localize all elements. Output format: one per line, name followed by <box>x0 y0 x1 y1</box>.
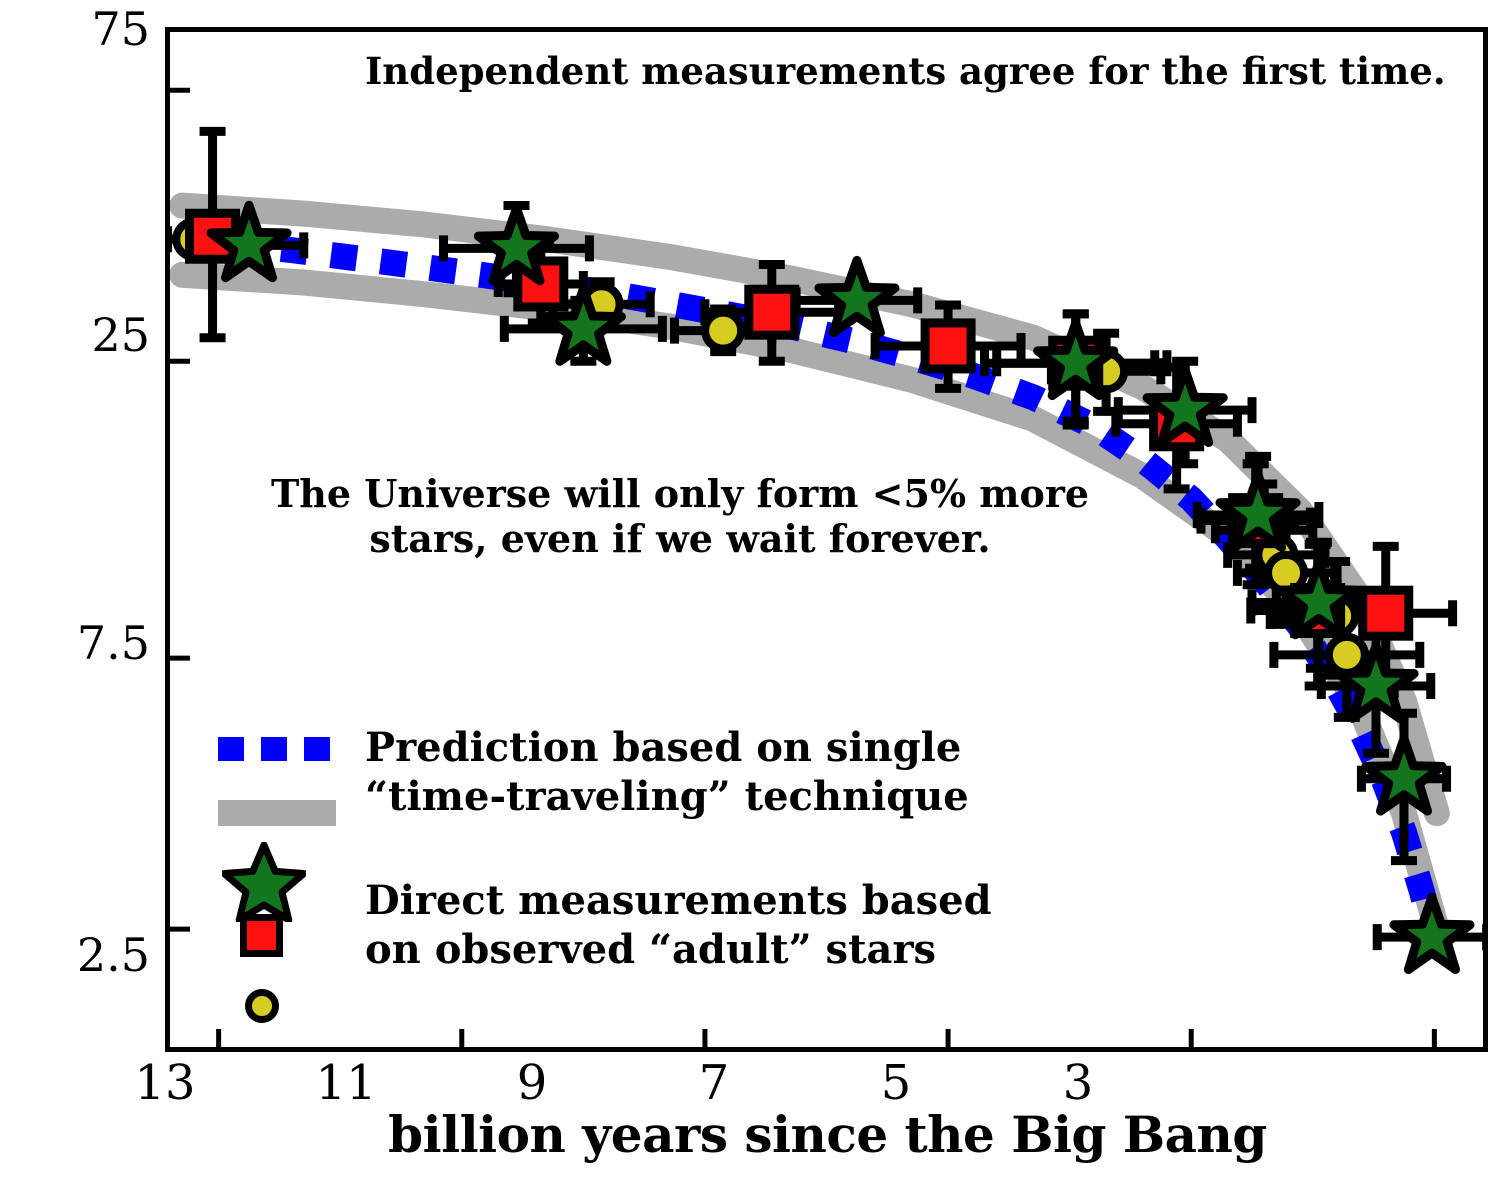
y-tick-label-75: 75 <box>0 2 150 56</box>
chart-figure: mass of of stars (µg) per Earth volume 7… <box>0 0 1500 1191</box>
legend-label-direct: Direct measurements based on observed “a… <box>365 877 992 975</box>
x-tick-label-13: 13 <box>115 1055 215 1111</box>
x-tick-label-3: 3 <box>1028 1055 1128 1111</box>
legend-prediction-line1: Prediction based on single <box>365 724 961 771</box>
annotation-middle-line2: stars, even if we wait forever. <box>369 516 990 561</box>
plot-area: Independent measurements agree for the f… <box>165 27 1488 1052</box>
legend-band-swatch <box>218 800 336 826</box>
legend-dashed-line-swatch <box>218 737 330 761</box>
y-tick-label-7.5: 7.5 <box>0 616 150 670</box>
legend-prediction-line2: “time-traveling” technique <box>365 773 969 820</box>
x-tick-label-7: 7 <box>664 1055 764 1111</box>
annotation-middle-line1: The Universe will only form <5% more <box>271 471 1089 516</box>
legend-star-icon <box>222 842 306 922</box>
x-tick-label-9: 9 <box>482 1055 582 1111</box>
y-tick-label-25: 25 <box>0 308 150 362</box>
legend-direct-line1: Direct measurements based <box>365 877 992 924</box>
x-tick-label-5: 5 <box>846 1055 946 1111</box>
legend-direct-line2: on observed “adult” stars <box>365 926 936 973</box>
legend-label-prediction: Prediction based on single “time-traveli… <box>365 724 969 822</box>
annotation-middle: The Universe will only form <5% more sta… <box>245 472 1115 562</box>
annotation-top: Independent measurements agree for the f… <box>365 50 1446 94</box>
y-tick-label-2.5: 2.5 <box>0 928 150 982</box>
legend-square-icon <box>240 914 283 957</box>
chart-legend: Prediction based on single “time-traveli… <box>190 702 1250 1032</box>
x-axis-label: billion years since the Big Bang <box>165 1105 1490 1164</box>
x-tick-label-11: 11 <box>296 1055 396 1111</box>
legend-circle-icon <box>245 989 279 1023</box>
